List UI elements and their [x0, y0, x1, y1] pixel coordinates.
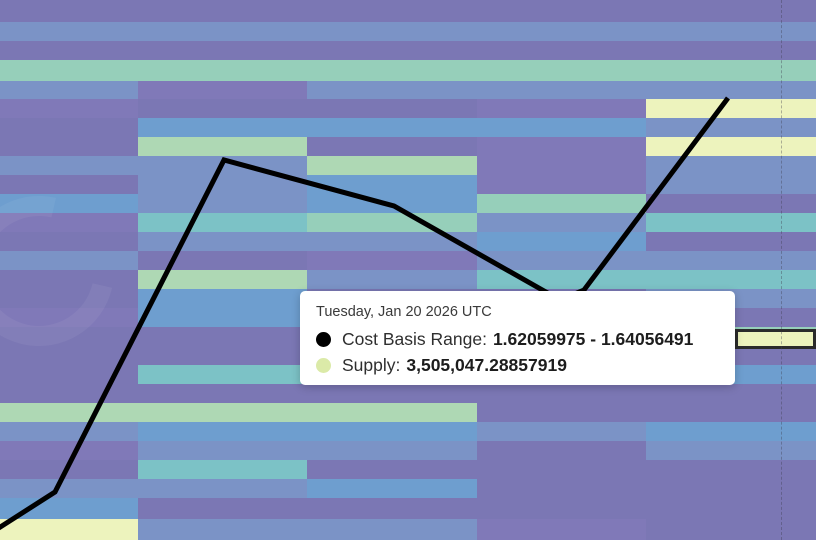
supply-marker [316, 358, 331, 373]
tooltip-label-cost-basis: Cost Basis Range: [342, 326, 487, 352]
tooltip-label-supply: Supply: [342, 352, 400, 378]
cost-basis-marker [316, 332, 331, 347]
chart-canvas[interactable]: Tuesday, Jan 20 2026 UTC Cost Basis Rang… [0, 0, 816, 540]
tooltip-value-cost-basis: 1.62059975 - 1.64056491 [493, 326, 693, 352]
tooltip-row-supply: Supply: 3,505,047.28857919 [316, 352, 719, 378]
tooltip-row-cost-basis: Cost Basis Range: 1.62059975 - 1.6405649… [316, 326, 719, 352]
cost-basis-line-series[interactable] [0, 0, 816, 540]
tooltip-date-label: Tuesday, Jan 20 2026 UTC [316, 302, 719, 322]
chart-tooltip: Tuesday, Jan 20 2026 UTC Cost Basis Rang… [300, 291, 735, 385]
tooltip-value-supply: 3,505,047.28857919 [406, 352, 567, 378]
